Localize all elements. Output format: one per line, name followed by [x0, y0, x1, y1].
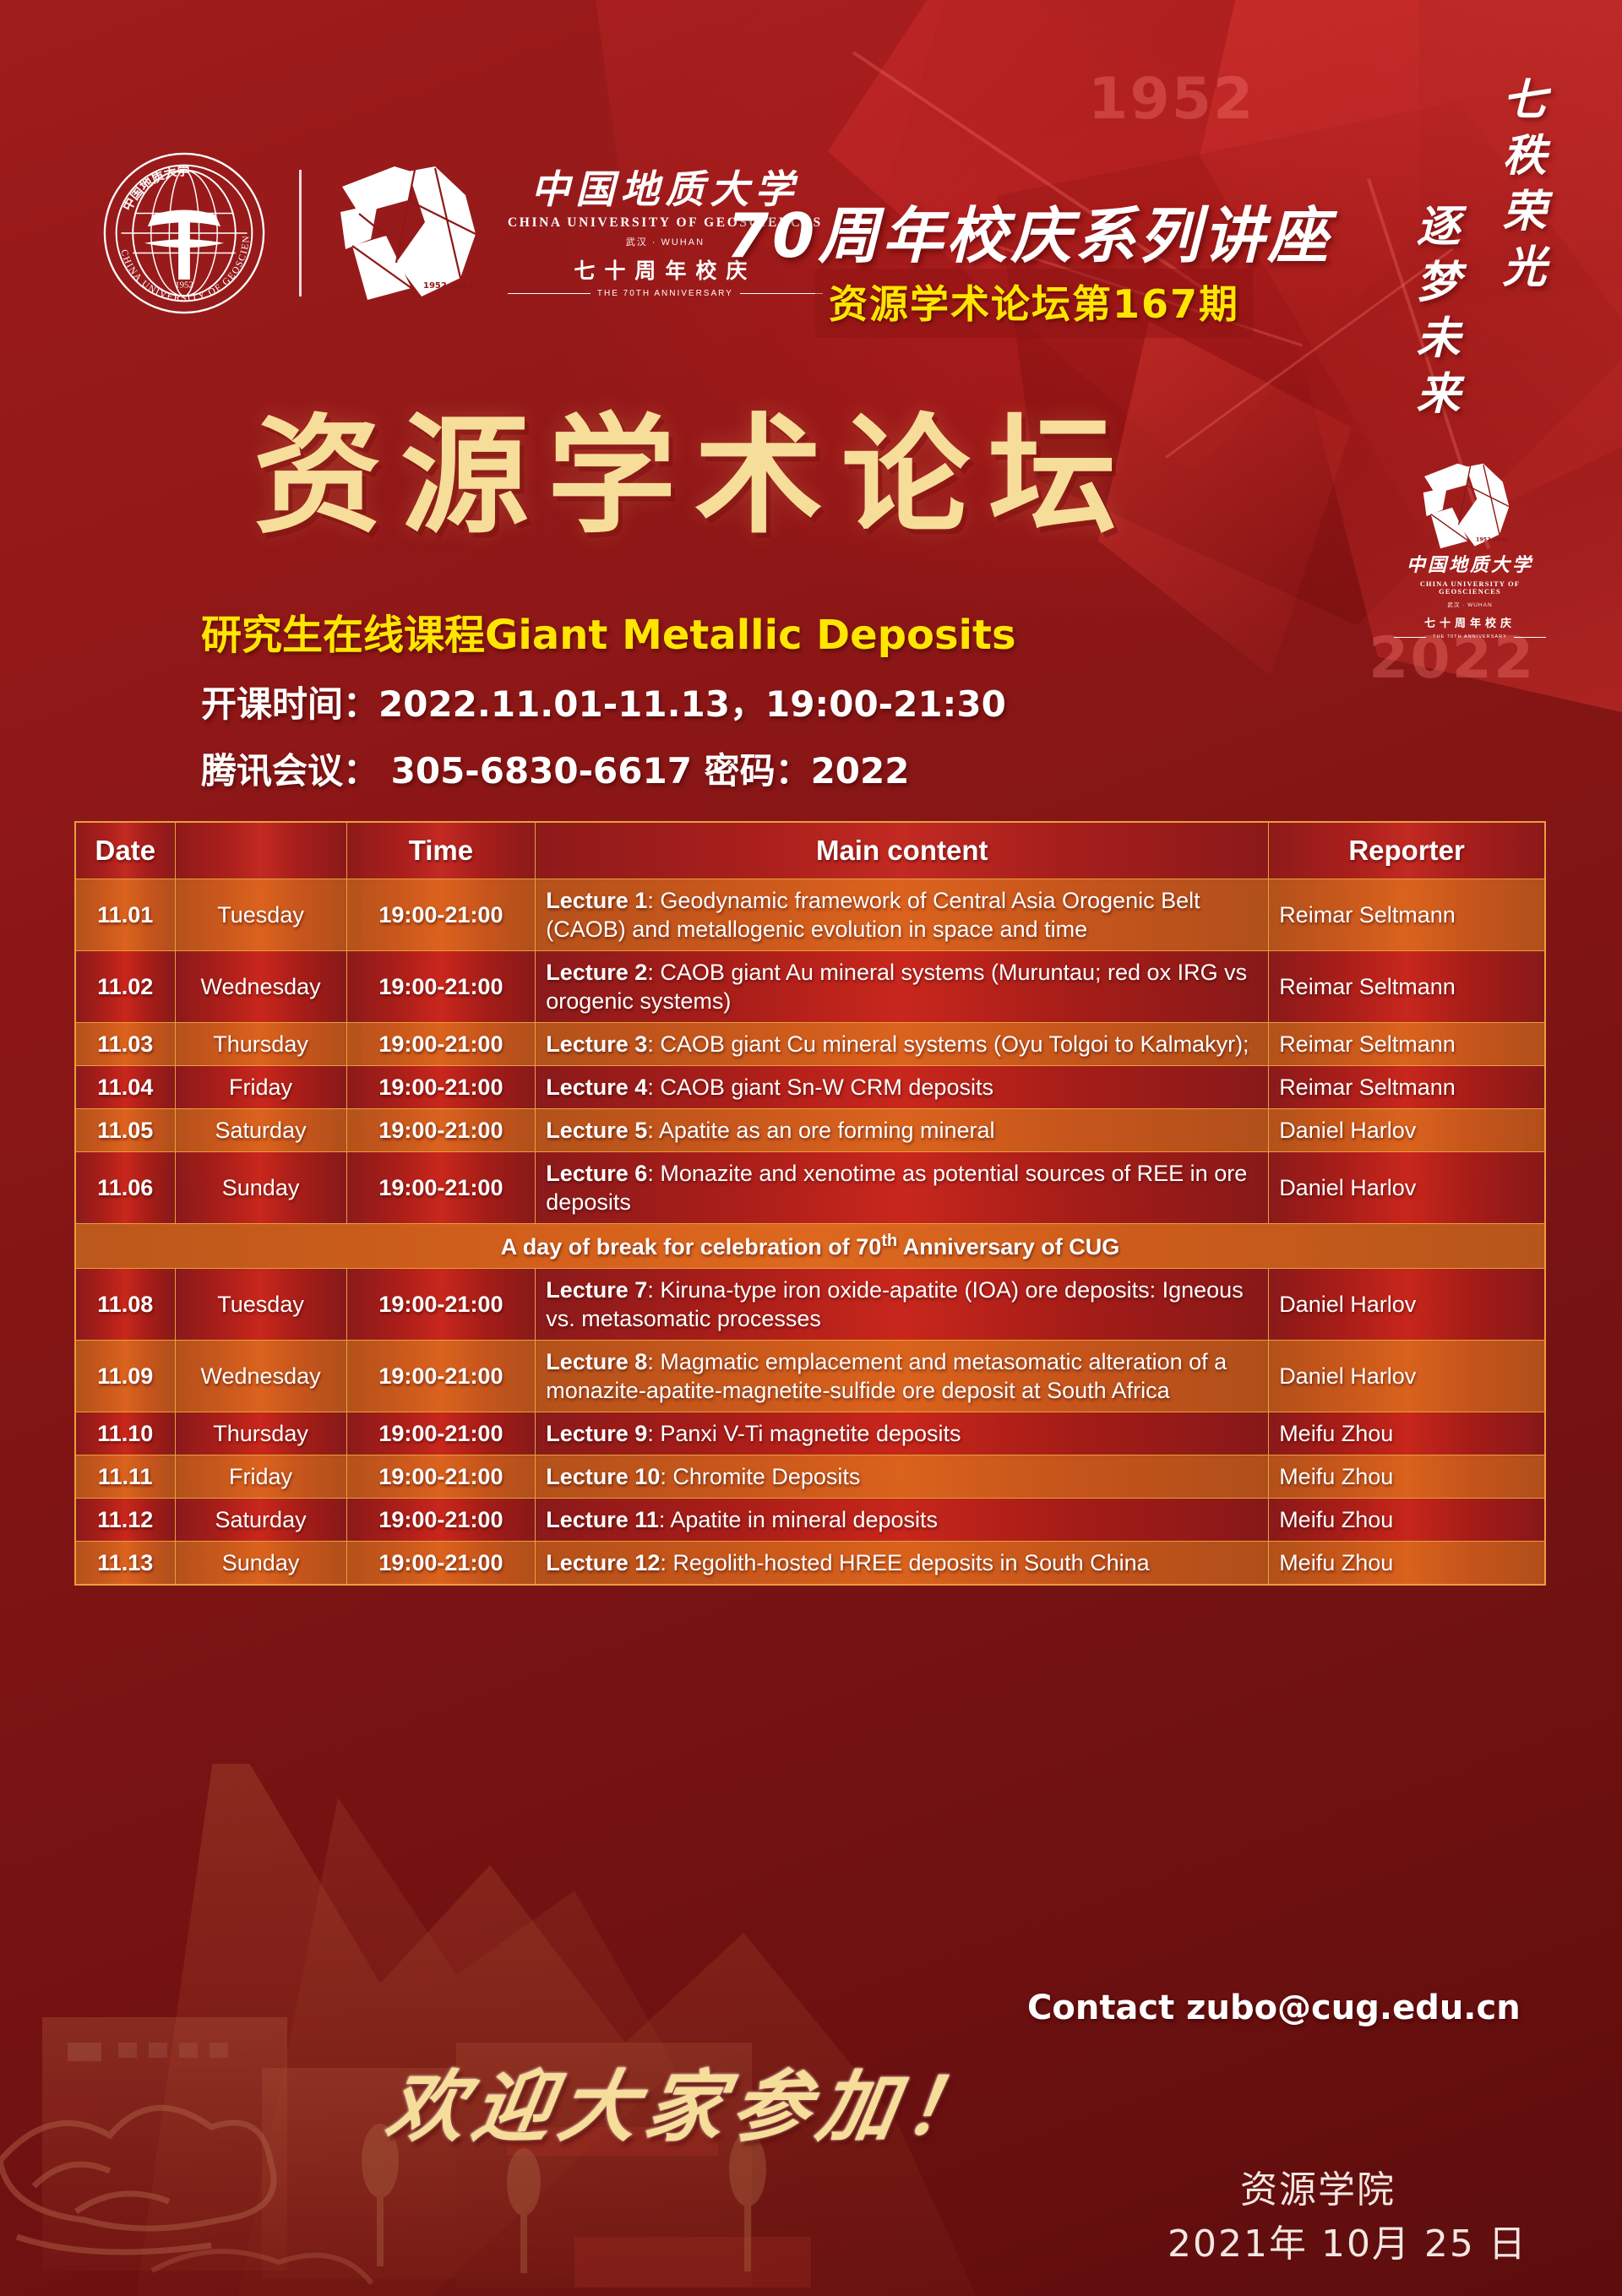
lecture-label: Lecture 7 — [546, 1277, 647, 1303]
cell-reporter: Reimar Seltmann — [1269, 1065, 1545, 1108]
logo-en-anniversary-row-small: THE 70TH ANNIVERSARY — [1394, 634, 1546, 639]
cell-time: 19:00-21:00 — [346, 879, 536, 950]
cell-time: 19:00-21:00 — [346, 950, 536, 1022]
lecture-label: Lecture 11 — [546, 1507, 659, 1532]
table-row: 11.06Sunday19:00-21:00Lecture 6: Monazit… — [75, 1151, 1545, 1223]
lecture-label: Lecture 1 — [546, 888, 647, 913]
table-row: 11.05Saturday19:00-21:00Lecture 5: Apati… — [75, 1108, 1545, 1151]
logo-city: 武汉 · WUHAN — [626, 235, 705, 248]
cell-reporter: Reimar Seltmann — [1269, 950, 1545, 1022]
logo-cn-name-small: 中国地质大学 — [1407, 556, 1533, 576]
table-row: 11.11Friday19:00-21:00Lecture 10: Chromi… — [75, 1455, 1545, 1498]
cell-date: 11.03 — [75, 1022, 175, 1065]
anniversary-logo-small: 1952-2022 中国地质大学 CHINA UNIVERSITY OF GEO… — [1394, 460, 1546, 639]
cell-reporter: Daniel Harlov — [1269, 1340, 1545, 1412]
svg-text:1952: 1952 — [175, 280, 193, 291]
logo-en-anniversary-small: THE 70TH ANNIVERSARY — [1433, 634, 1507, 639]
schedule-table: Date Time Main content Reporter 11.01Tue… — [74, 821, 1546, 1586]
column-header-reporter: Reporter — [1269, 822, 1545, 879]
logo-year-range-small: 1952-2022 — [1476, 536, 1508, 542]
cell-day: Thursday — [175, 1412, 346, 1455]
table-row: 11.09Wednesday19:00-21:00Lecture 8: Magm… — [75, 1340, 1545, 1412]
cell-day: Sunday — [175, 1541, 346, 1585]
cell-time: 19:00-21:00 — [346, 1541, 536, 1585]
cell-time: 19:00-21:00 — [346, 1151, 536, 1223]
break-row: A day of break for celebration of 70th A… — [75, 1223, 1545, 1268]
cell-content: Lecture 4: CAOB giant Sn-W CRM deposits — [536, 1065, 1269, 1108]
cell-day: Saturday — [175, 1498, 346, 1541]
logo-city-small: 武汉 · WUHAN — [1447, 600, 1492, 608]
logo-cn-anniversary-small: 七十周年校庆 — [1424, 614, 1516, 630]
cell-content: Lecture 7: Kiruna-type iron oxide-apatit… — [536, 1268, 1269, 1340]
cell-time: 19:00-21:00 — [346, 1498, 536, 1541]
logo-en-anniversary-row: THE 70TH ANNIVERSARY — [508, 289, 823, 298]
course-info-block: 研究生在线课程Giant Metallic Deposits 开课时间：2022… — [201, 601, 1016, 794]
column-header-content: Main content — [536, 822, 1269, 879]
page-title: 资源学术论坛 — [253, 372, 1135, 558]
forum-issue-banner: 资源学术论坛第167期 — [815, 269, 1253, 338]
cell-content: Lecture 8: Magmatic emplacement and meta… — [536, 1340, 1269, 1412]
logo-en-anniversary: THE 70TH ANNIVERSARY — [597, 289, 733, 298]
cell-time: 19:00-21:00 — [346, 1455, 536, 1498]
cell-reporter: Meifu Zhou — [1269, 1455, 1545, 1498]
lecture-label: Lecture 2 — [546, 960, 647, 985]
column-header-date: Date — [75, 822, 175, 879]
logo-band: 中国地质大学 CHINA UNIVERSITY OF GEOSCIENCES 1… — [101, 150, 823, 316]
lecture-label: Lecture 4 — [546, 1075, 647, 1100]
table-row: 11.13Sunday19:00-21:00Lecture 12: Regoli… — [75, 1541, 1545, 1585]
cell-content: Lecture 9: Panxi V-Ti magnetite deposits — [536, 1412, 1269, 1455]
cell-day: Wednesday — [175, 1340, 346, 1412]
calligraphy-right-top: 七秩荣光 — [1489, 76, 1552, 299]
cell-reporter: Daniel Harlov — [1269, 1108, 1545, 1151]
cell-content: Lecture 2: CAOB giant Au mineral systems… — [536, 950, 1269, 1022]
cell-reporter: Daniel Harlov — [1269, 1151, 1545, 1223]
cell-time: 19:00-21:00 — [346, 1065, 536, 1108]
cell-reporter: Daniel Harlov — [1269, 1268, 1545, 1340]
university-seal-icon: 中国地质大学 CHINA UNIVERSITY OF GEOSCIENCES 1… — [101, 150, 267, 316]
course-meeting-line: 腾讯会议： 305-6830-6617 密码：2022 — [201, 743, 1016, 794]
cell-content: Lecture 5: Apatite as an ore forming min… — [536, 1108, 1269, 1151]
table-row: 11.01Tuesday19:00-21:00Lecture 1: Geodyn… — [75, 879, 1545, 950]
lecture-label: Lecture 10 — [546, 1464, 660, 1489]
contact-line[interactable]: Contact zubo@cug.edu.cn — [1027, 1989, 1521, 2027]
cell-reporter: Reimar Seltmann — [1269, 879, 1545, 950]
column-header-time: Time — [346, 822, 536, 879]
cell-day: Wednesday — [175, 950, 346, 1022]
cell-time: 19:00-21:00 — [346, 1268, 536, 1340]
column-header-day — [175, 822, 346, 879]
lecture-label: Lecture 8 — [546, 1349, 647, 1374]
course-title: 研究生在线课程Giant Metallic Deposits — [201, 601, 1016, 661]
cell-day: Thursday — [175, 1022, 346, 1065]
break-row-text: A day of break for celebration of 70th A… — [75, 1223, 1545, 1268]
lecture-label: Lecture 12 — [546, 1550, 660, 1575]
cell-content: Lecture 1: Geodynamic framework of Centr… — [536, 879, 1269, 950]
lecture-label: Lecture 9 — [546, 1421, 647, 1446]
table-row: 11.04Friday19:00-21:00Lecture 4: CAOB gi… — [75, 1065, 1545, 1108]
cell-time: 19:00-21:00 — [346, 1108, 536, 1151]
calligraphy-right-bottom: 逐梦未来 — [1402, 203, 1466, 426]
poster-canvas: 1952 2022 中国地质大学 CHINA UNIVERSITY OF GEO… — [0, 0, 1622, 2296]
footer-organizer: 资源学院 — [1240, 2159, 1396, 2213]
watermark-year-1952: 1952 — [1088, 66, 1255, 133]
seventy-anniversary-icon: 1952-2022 — [334, 161, 494, 305]
table-header-row: Date Time Main content Reporter — [75, 822, 1545, 879]
cell-date: 11.05 — [75, 1108, 175, 1151]
cell-date: 11.09 — [75, 1340, 175, 1412]
cell-day: Tuesday — [175, 1268, 346, 1340]
cell-day: Saturday — [175, 1108, 346, 1151]
cell-content: Lecture 11: Apatite in mineral deposits — [536, 1498, 1269, 1541]
cell-content: Lecture 3: CAOB giant Cu mineral systems… — [536, 1022, 1269, 1065]
logo-year-range: 1952-2022 — [423, 281, 474, 291]
seventy-anniversary-icon-small: 1952-2022 — [1418, 460, 1521, 552]
cell-date: 11.08 — [75, 1268, 175, 1340]
course-schedule-line: 开课时间：2022.11.01-11.13，19:00-21:30 — [201, 676, 1016, 727]
table-row: 11.10Thursday19:00-21:00Lecture 9: Panxi… — [75, 1412, 1545, 1455]
cell-date: 11.06 — [75, 1151, 175, 1223]
table-row: 11.02Wednesday19:00-21:00Lecture 2: CAOB… — [75, 950, 1545, 1022]
cell-content: Lecture 6: Monazite and xenotime as pote… — [536, 1151, 1269, 1223]
table-row: 11.08Tuesday19:00-21:00Lecture 7: Kiruna… — [75, 1268, 1545, 1340]
cell-time: 19:00-21:00 — [346, 1022, 536, 1065]
cell-date: 11.13 — [75, 1541, 175, 1585]
cell-time: 19:00-21:00 — [346, 1340, 536, 1412]
cell-date: 11.02 — [75, 950, 175, 1022]
lecture-label: Lecture 3 — [546, 1031, 647, 1057]
forum-issue-text: 资源学术论坛第167期 — [829, 274, 1239, 329]
schedule-table-body: 11.01Tuesday19:00-21:00Lecture 1: Geodyn… — [75, 879, 1545, 1585]
welcome-calligraphy: 欢迎大家参加！ — [379, 2044, 1000, 2157]
table-row: 11.03Thursday19:00-21:00Lecture 3: CAOB … — [75, 1022, 1545, 1065]
footer-date: 2021年 10月 25 日 — [1168, 2213, 1527, 2267]
lecture-label: Lecture 6 — [546, 1161, 647, 1186]
cell-day: Friday — [175, 1065, 346, 1108]
logo-en-name-small: CHINA UNIVERSITY OF GEOSCIENCES — [1394, 580, 1546, 596]
cell-reporter: Meifu Zhou — [1269, 1412, 1545, 1455]
cell-date: 11.12 — [75, 1498, 175, 1541]
cell-content: Lecture 12: Regolith-hosted HREE deposit… — [536, 1541, 1269, 1585]
series-title: 70周年校庆系列讲座 — [727, 186, 1331, 275]
table-row: 11.12Saturday19:00-21:00Lecture 11: Apat… — [75, 1498, 1545, 1541]
cell-date: 11.01 — [75, 879, 175, 950]
cell-reporter: Reimar Seltmann — [1269, 1022, 1545, 1065]
campus-illustration — [0, 1764, 980, 2296]
cell-day: Sunday — [175, 1151, 346, 1223]
cell-reporter: Meifu Zhou — [1269, 1498, 1545, 1541]
lecture-label: Lecture 5 — [546, 1118, 647, 1143]
cell-time: 19:00-21:00 — [346, 1412, 536, 1455]
cell-date: 11.04 — [75, 1065, 175, 1108]
cell-content: Lecture 10: Chromite Deposits — [536, 1455, 1269, 1498]
cell-day: Tuesday — [175, 879, 346, 950]
cell-date: 11.11 — [75, 1455, 175, 1498]
cell-reporter: Meifu Zhou — [1269, 1541, 1545, 1585]
cell-date: 11.10 — [75, 1412, 175, 1455]
logo-divider — [299, 170, 302, 297]
cell-day: Friday — [175, 1455, 346, 1498]
